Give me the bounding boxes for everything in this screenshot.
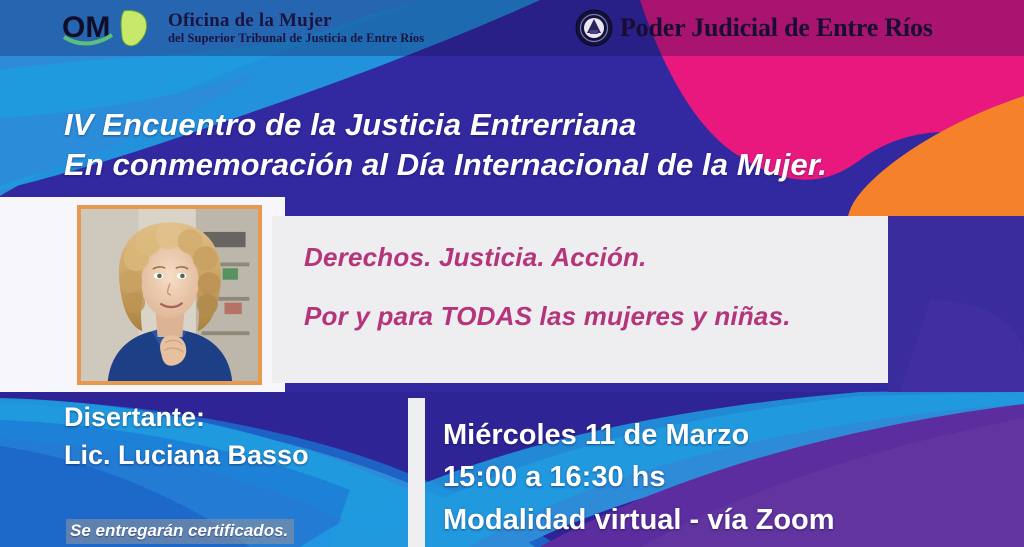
- event-modality: Modalidad virtual - vía Zoom: [443, 499, 835, 541]
- event-details-block: Miércoles 11 de Marzo 15:00 a 16:30 hs M…: [443, 414, 835, 541]
- speaker-label: Disertante:: [64, 398, 309, 436]
- speaker-name: Lic. Luciana Basso: [64, 436, 309, 474]
- poder-judicial-title: Poder Judicial de Entre Ríos: [620, 13, 933, 43]
- headline-line-1: IV Encuentro de la Justicia Entrerriana: [64, 105, 827, 145]
- event-date: Miércoles 11 de Marzo: [443, 414, 835, 456]
- headline-line-2: En conmemoración al Día Internacional de…: [64, 145, 827, 185]
- certificates-note: Se entregarán certificados.: [66, 519, 294, 544]
- vertical-divider: [408, 398, 425, 547]
- logo-header-bar: OM Oficina de la Mujer del Superior Trib…: [0, 0, 1024, 56]
- speaker-block: Disertante: Lic. Luciana Basso: [64, 398, 309, 475]
- entre-rios-map-icon: [121, 10, 146, 45]
- om-monogram-mark: OM: [62, 7, 160, 49]
- om-logo-subtitle: del Superior Tribunal de Justicia de Ent…: [168, 32, 424, 46]
- slogan-line-2: Por y para TODAS las mujeres y niñas.: [304, 301, 888, 332]
- slogan-line-1: Derechos. Justicia. Acción.: [304, 242, 888, 273]
- poder-judicial-logo: Poder Judicial de Entre Ríos: [575, 6, 933, 50]
- om-logo-title: Oficina de la Mujer: [168, 11, 424, 31]
- om-logo: OM Oficina de la Mujer del Superior Trib…: [62, 5, 424, 51]
- om-logo-text: Oficina de la Mujer del Superior Tribuna…: [168, 11, 424, 46]
- judicial-seal-icon: [575, 9, 613, 47]
- speaker-photo: [77, 205, 262, 385]
- event-time: 15:00 a 16:30 hs: [443, 456, 835, 498]
- event-flyer: OM Oficina de la Mujer del Superior Trib…: [0, 0, 1024, 547]
- slogan-panel: Derechos. Justicia. Acción. Por y para T…: [272, 216, 888, 383]
- event-headline: IV Encuentro de la Justicia Entrerriana …: [64, 105, 827, 184]
